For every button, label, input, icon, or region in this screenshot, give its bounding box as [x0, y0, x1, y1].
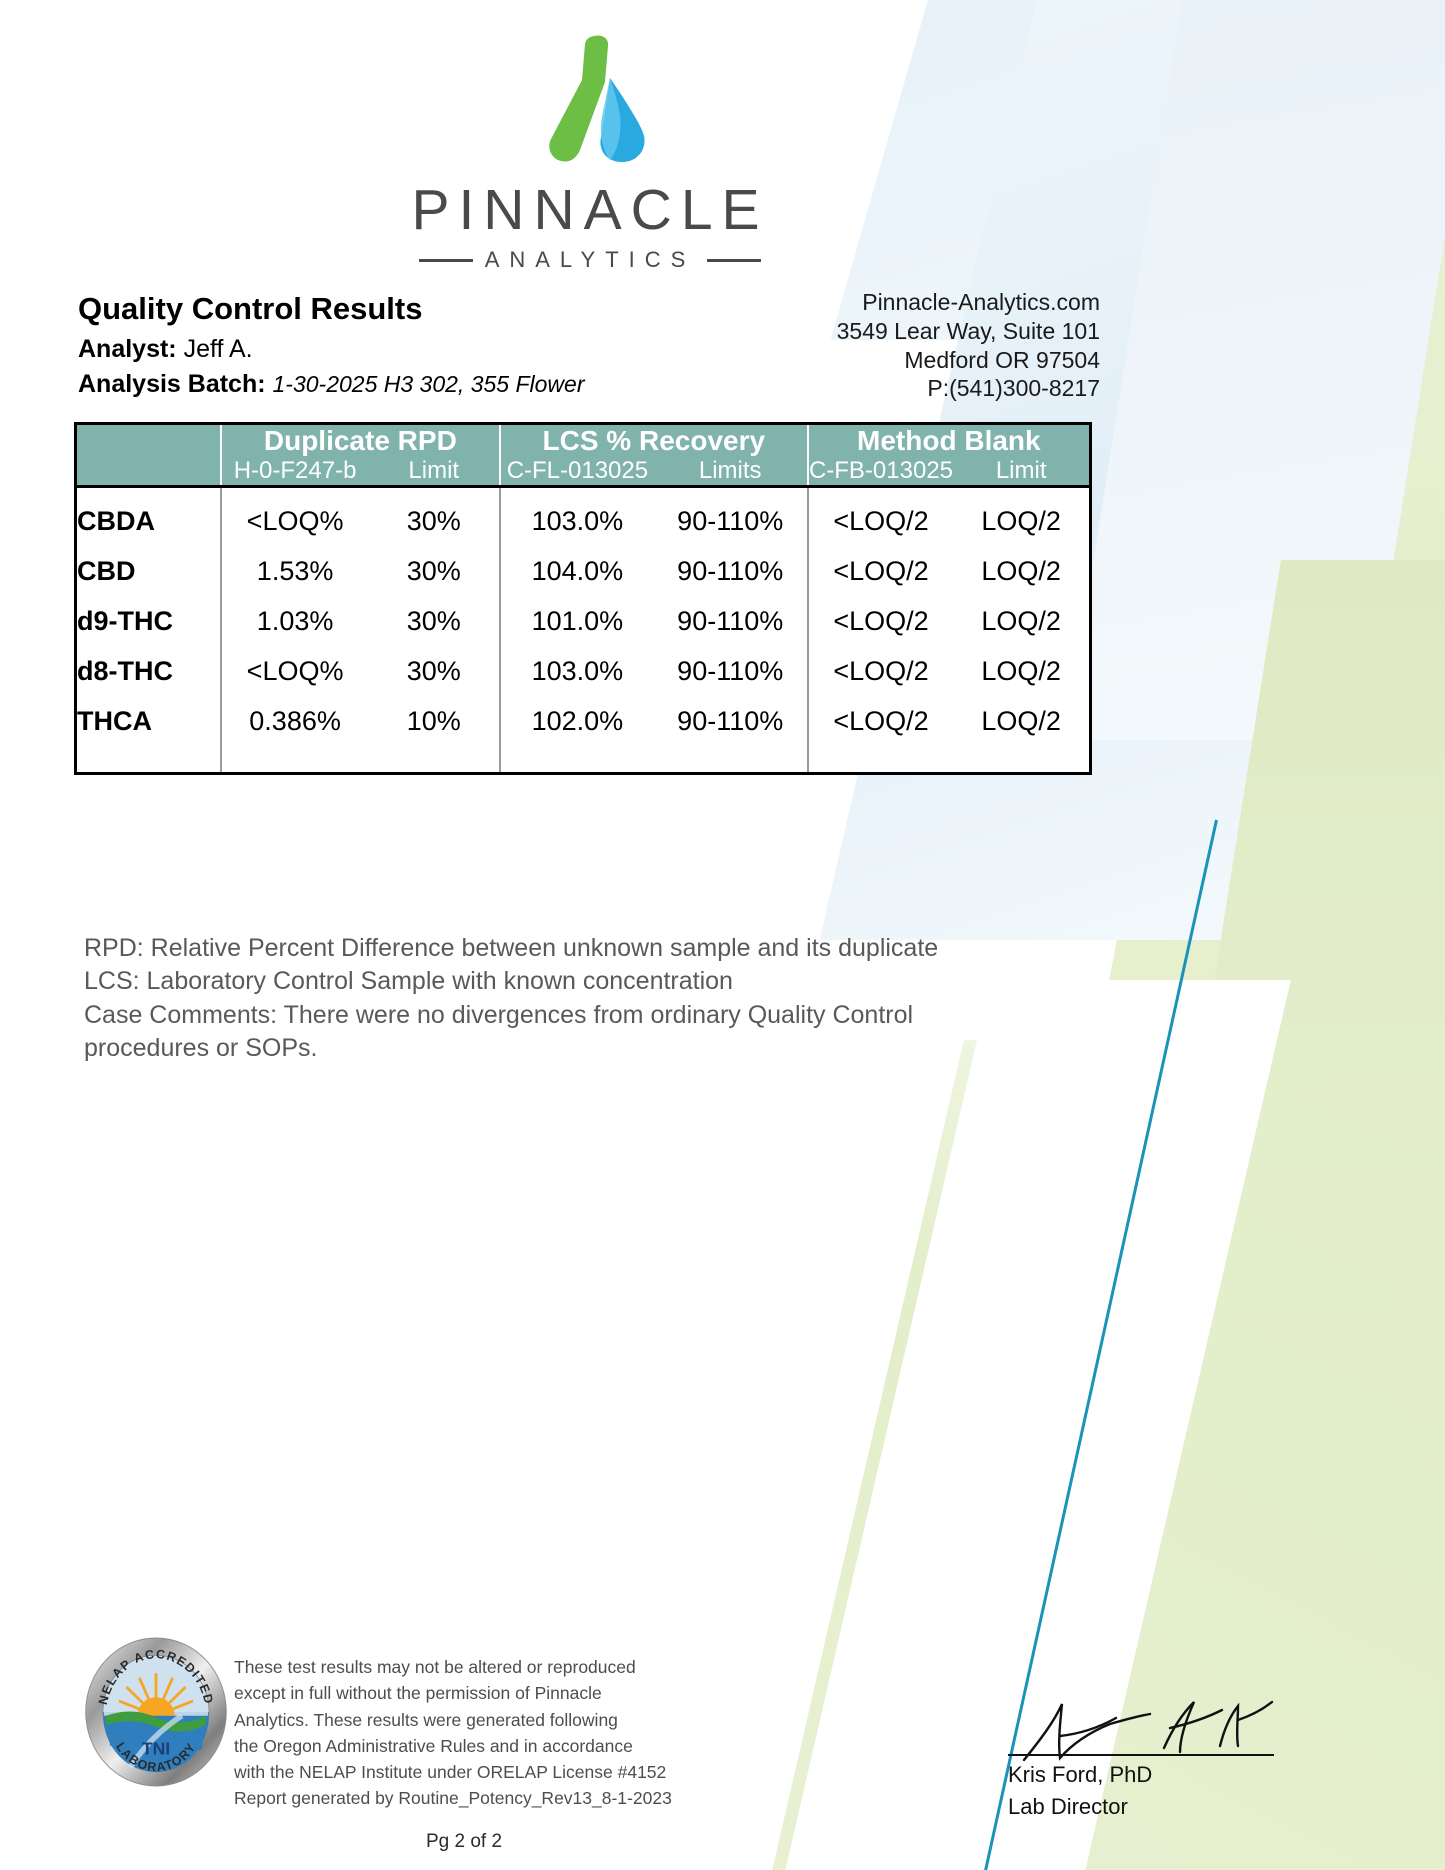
signer-title: Lab Director — [1008, 1794, 1308, 1820]
cell-rpd-value: 1.03% — [221, 596, 369, 646]
cell-rpd-value: 0.386% — [221, 696, 369, 746]
cell-lcs-value: 101.0% — [500, 596, 654, 646]
address-website: Pinnacle-Analytics.com — [837, 288, 1100, 317]
flask-logo-icon — [510, 30, 670, 175]
report-title-block: Quality Control Results Analyst: Jeff A.… — [78, 288, 585, 403]
table-row: d8-THC <LOQ% 30% 103.0% 90-110% <LOQ/2 L… — [77, 646, 1089, 696]
company-logo: PINNACLE ANALYTICS — [0, 30, 1180, 273]
subheader-lcs-limits: Limits — [654, 457, 808, 487]
note-rpd: RPD: Relative Percent Difference between… — [84, 932, 1114, 965]
analyst-row: Analyst: Jeff A. — [78, 332, 585, 368]
seal-center-text: TNI — [142, 1739, 170, 1759]
table-bottom-spacer — [77, 746, 1089, 772]
note-case-comments-cont: procedures or SOPs. — [84, 1032, 1114, 1065]
disclaimer-line-4: the Oregon Administrative Rules and in a… — [234, 1733, 694, 1759]
spacer-cell — [953, 746, 1089, 772]
note-case-comments: Case Comments: There were no divergences… — [84, 999, 1114, 1032]
spacer-cell — [808, 746, 954, 772]
analyst-value: Jeff A. — [184, 335, 253, 363]
table-notes: RPD: Relative Percent Difference between… — [84, 932, 1114, 1065]
batch-value: 1-30-2025 H3 302, 355 Flower — [273, 371, 585, 397]
subheader-rpd-sample-id: H-0-F247-b — [221, 457, 369, 487]
brand-tagline-row: ANALYTICS — [0, 247, 1180, 273]
spacer-cell — [500, 746, 654, 772]
table-body: CBDA <LOQ% 30% 103.0% 90-110% <LOQ/2 LOQ… — [77, 487, 1089, 773]
cell-lcs-value: 103.0% — [500, 487, 654, 547]
group-header-lcs-recovery: LCS % Recovery — [500, 425, 808, 457]
spacer-cell — [221, 746, 369, 772]
cell-rpd-value: 1.53% — [221, 546, 369, 596]
disclaimer-line-3: Analytics. These results were generated … — [234, 1707, 694, 1733]
cell-lcs-value: 103.0% — [500, 646, 654, 696]
brand-rule-right — [707, 259, 761, 262]
cell-analyte: THCA — [77, 696, 221, 746]
table-row: CBD 1.53% 30% 104.0% 90-110% <LOQ/2 LOQ/… — [77, 546, 1089, 596]
cell-lcs-limits: 90-110% — [654, 596, 808, 646]
subheader-lcs-sample-id: C-FL-013025 — [500, 457, 654, 487]
qc-results-table-container: Duplicate RPD LCS % Recovery Method Blan… — [74, 422, 1092, 775]
cell-blank-value: <LOQ/2 — [808, 546, 954, 596]
subheader-blank — [77, 457, 221, 487]
table-row: d9-THC 1.03% 30% 101.0% 90-110% <LOQ/2 L… — [77, 596, 1089, 646]
disclaimer-line-2: except in full without the permission of… — [234, 1680, 694, 1706]
spacer-cell — [77, 746, 221, 772]
table-head: Duplicate RPD LCS % Recovery Method Blan… — [77, 425, 1089, 487]
cell-rpd-limit: 30% — [368, 646, 500, 696]
analyst-label: Analyst: — [78, 335, 177, 363]
cell-lcs-limits: 90-110% — [654, 487, 808, 547]
table-row: THCA 0.386% 10% 102.0% 90-110% <LOQ/2 LO… — [77, 696, 1089, 746]
qc-results-table: Duplicate RPD LCS % Recovery Method Blan… — [77, 425, 1089, 772]
page-title: Quality Control Results — [78, 288, 585, 330]
brand-rule-left — [419, 259, 473, 262]
note-lcs: LCS: Laboratory Control Sample with know… — [84, 965, 1114, 998]
cell-blank-value: <LOQ/2 — [808, 596, 954, 646]
group-header-method-blank: Method Blank — [808, 425, 1089, 457]
cell-analyte: CBDA — [77, 487, 221, 547]
cell-blank-limit: LOQ/2 — [953, 546, 1089, 596]
cell-lcs-value: 104.0% — [500, 546, 654, 596]
table-subheader-row: H-0-F247-b Limit C-FL-013025 Limits C-FB… — [77, 457, 1089, 487]
address-street: 3549 Lear Way, Suite 101 — [837, 317, 1100, 346]
cell-analyte: d9-THC — [77, 596, 221, 646]
cell-rpd-value: <LOQ% — [221, 487, 369, 547]
cell-blank-limit: LOQ/2 — [953, 696, 1089, 746]
disclaimer-line-6: Report generated by Routine_Potency_Rev1… — [234, 1785, 694, 1811]
cell-lcs-limits: 90-110% — [654, 546, 808, 596]
batch-label: Analysis Batch: — [78, 370, 266, 398]
subheader-blank-sample-id: C-FB-013025 — [808, 457, 954, 487]
cell-rpd-limit: 30% — [368, 546, 500, 596]
cell-lcs-value: 102.0% — [500, 696, 654, 746]
subheader-blank-limit: Limit — [953, 457, 1089, 487]
report-footer: TNI NELAP ACCREDITED LABORATORY These te… — [0, 1628, 1445, 1868]
signature-block: Kris Ford, PhD Lab Director — [1008, 1694, 1308, 1821]
cell-rpd-limit: 10% — [368, 696, 500, 746]
spacer-cell — [654, 746, 808, 772]
disclaimer-line-1: These test results may not be altered or… — [234, 1654, 694, 1680]
nelap-accreditation-seal-icon: TNI NELAP ACCREDITED LABORATORY — [82, 1636, 230, 1788]
cell-blank-limit: LOQ/2 — [953, 487, 1089, 547]
disclaimer-line-5: with the NELAP Institute under ORELAP Li… — [234, 1759, 694, 1785]
table-group-header-row: Duplicate RPD LCS % Recovery Method Blan… — [77, 425, 1089, 457]
lab-address-block: Pinnacle-Analytics.com 3549 Lear Way, Su… — [837, 288, 1100, 403]
brand-tagline: ANALYTICS — [485, 247, 696, 273]
address-city-state-zip: Medford OR 97504 — [837, 346, 1100, 375]
spacer-cell — [368, 746, 500, 772]
cell-blank-value: <LOQ/2 — [808, 696, 954, 746]
address-phone: P:(541)300-8217 — [837, 374, 1100, 403]
group-header-duplicate-rpd: Duplicate RPD — [221, 425, 500, 457]
cell-lcs-limits: 90-110% — [654, 646, 808, 696]
disclaimer-text: These test results may not be altered or… — [234, 1654, 694, 1856]
subheader-rpd-limit: Limit — [368, 457, 500, 487]
cell-blank-value: <LOQ/2 — [808, 646, 954, 696]
cell-blank-limit: LOQ/2 — [953, 646, 1089, 696]
page-number: Pg 2 of 2 — [234, 1828, 694, 1857]
table-row: CBDA <LOQ% 30% 103.0% 90-110% <LOQ/2 LOQ… — [77, 487, 1089, 547]
group-header-blank — [77, 425, 221, 457]
brand-name: PINNACLE — [0, 177, 1180, 243]
cell-rpd-value: <LOQ% — [221, 646, 369, 696]
signature-icon — [1014, 1694, 1294, 1774]
cell-lcs-limits: 90-110% — [654, 696, 808, 746]
cell-blank-value: <LOQ/2 — [808, 487, 954, 547]
document-page: PINNACLE ANALYTICS Pinnacle-Analytics.co… — [0, 0, 1445, 1870]
cell-analyte: d8-THC — [77, 646, 221, 696]
report-header: Pinnacle-Analytics.com 3549 Lear Way, Su… — [78, 288, 1100, 403]
cell-rpd-limit: 30% — [368, 596, 500, 646]
batch-row: Analysis Batch: 1-30-2025 H3 302, 355 Fl… — [78, 367, 585, 403]
cell-analyte: CBD — [77, 546, 221, 596]
cell-rpd-limit: 30% — [368, 487, 500, 547]
cell-blank-limit: LOQ/2 — [953, 596, 1089, 646]
